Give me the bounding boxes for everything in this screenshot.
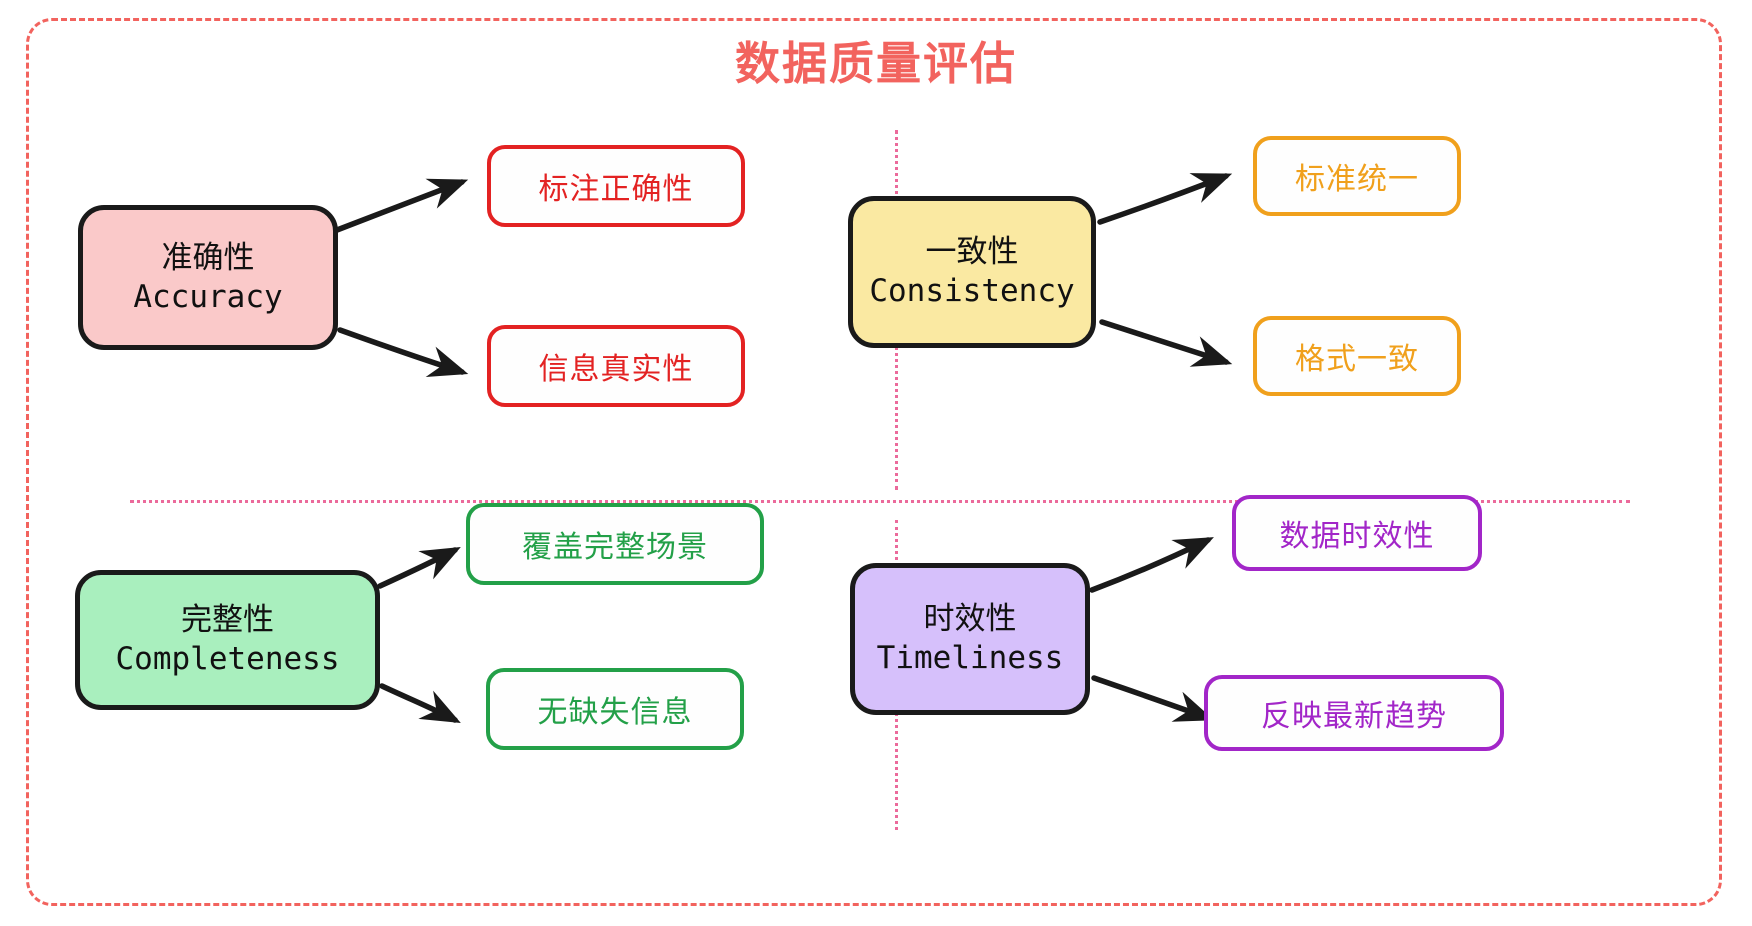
main-node-timeliness-en: Timeliness <box>877 640 1064 678</box>
leaf-node-consistency-2-label: 格式一致 <box>1295 334 1419 378</box>
leaf-node-consistency-2[interactable]: 格式一致 <box>1253 316 1461 396</box>
leaf-node-accuracy-1[interactable]: 标注正确性 <box>487 145 745 227</box>
main-node-timeliness-cn: 时效性 <box>924 600 1017 638</box>
leaf-node-timeliness-2[interactable]: 反映最新趋势 <box>1204 675 1504 751</box>
main-node-timeliness[interactable]: 时效性 Timeliness <box>850 563 1090 715</box>
leaf-node-timeliness-2-label: 反映最新趋势 <box>1261 691 1447 735</box>
main-node-accuracy-cn: 准确性 <box>162 239 255 277</box>
main-node-completeness-en: Completeness <box>116 641 340 679</box>
leaf-node-timeliness-1[interactable]: 数据时效性 <box>1232 495 1482 571</box>
main-node-consistency-cn: 一致性 <box>926 233 1019 271</box>
leaf-node-accuracy-2[interactable]: 信息真实性 <box>487 325 745 407</box>
outer-dashed-frame <box>26 18 1722 906</box>
leaf-node-consistency-1-label: 标准统一 <box>1295 154 1419 198</box>
leaf-node-completeness-2-label: 无缺失信息 <box>538 687 693 731</box>
main-node-completeness[interactable]: 完整性 Completeness <box>75 570 380 710</box>
main-node-accuracy[interactable]: 准确性 Accuracy <box>78 205 338 350</box>
leaf-node-consistency-1[interactable]: 标准统一 <box>1253 136 1461 216</box>
main-node-accuracy-en: Accuracy <box>133 279 282 317</box>
leaf-node-completeness-2[interactable]: 无缺失信息 <box>486 668 744 750</box>
leaf-node-accuracy-2-label: 信息真实性 <box>539 344 694 388</box>
leaf-node-timeliness-1-label: 数据时效性 <box>1280 511 1435 555</box>
leaf-node-accuracy-1-label: 标注正确性 <box>539 164 694 208</box>
main-node-consistency-en: Consistency <box>869 273 1074 311</box>
main-node-completeness-cn: 完整性 <box>181 601 274 639</box>
leaf-node-completeness-1-label: 覆盖完整场景 <box>522 522 708 566</box>
page-title: 数据质量评估 <box>0 27 1752 92</box>
main-node-consistency[interactable]: 一致性 Consistency <box>848 196 1096 348</box>
leaf-node-completeness-1[interactable]: 覆盖完整场景 <box>466 503 764 585</box>
diagram-canvas: 数据质量评估 准确性 Accuracy 标注正确性 信息 <box>0 0 1752 926</box>
